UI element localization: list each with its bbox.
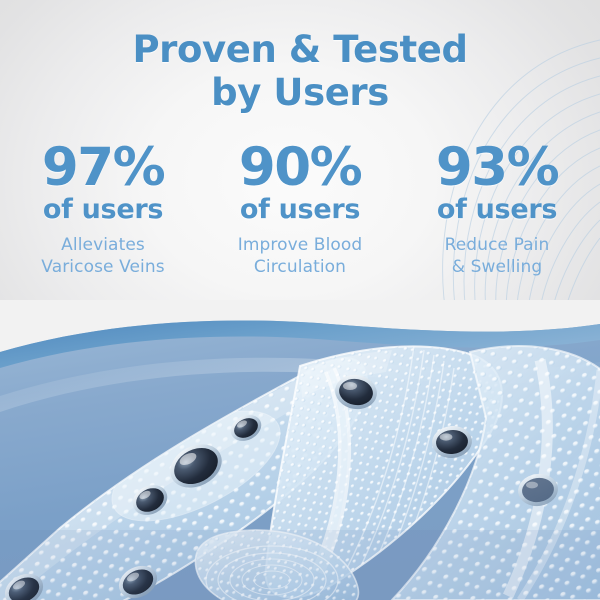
stat-block-blood-circulation: 90% of users Improve Blood Circulation: [205, 142, 395, 279]
stat-of-users-label: of users: [8, 194, 198, 227]
statistics-row: 97% of users Alleviates Varicose Veins 9…: [0, 142, 600, 279]
stat-block-varicose-veins: 97% of users Alleviates Varicose Veins: [8, 142, 198, 279]
headline-line-2: by Users: [0, 71, 600, 114]
stat-description-line-1: Reduce Pain: [445, 235, 550, 255]
headline-line-1: Proven & Tested: [132, 28, 467, 71]
stat-description-line-1: Improve Blood: [238, 235, 363, 255]
stat-percent: 97%: [8, 142, 198, 194]
page-title: Proven & Tested by Users: [0, 28, 600, 115]
stat-description: Improve Blood Circulation: [205, 234, 395, 279]
product-photo-illustration: [0, 300, 600, 600]
stat-percent: 93%: [402, 142, 592, 194]
stat-percent: 90%: [205, 142, 395, 194]
infographic-panel: Proven & Tested by Users 97% of users Al…: [0, 0, 600, 600]
product-photo: [0, 300, 600, 600]
stat-description-line-2: & Swelling: [402, 256, 592, 279]
stat-description-line-2: Varicose Veins: [8, 256, 198, 279]
stat-of-users-label: of users: [205, 194, 395, 227]
stat-of-users-label: of users: [402, 194, 592, 227]
stat-description: Alleviates Varicose Veins: [8, 234, 198, 279]
stat-description-line-2: Circulation: [205, 256, 395, 279]
stat-description: Reduce Pain & Swelling: [402, 234, 592, 279]
stat-description-line-1: Alleviates: [61, 235, 145, 255]
stat-block-pain-swelling: 93% of users Reduce Pain & Swelling: [402, 142, 592, 279]
